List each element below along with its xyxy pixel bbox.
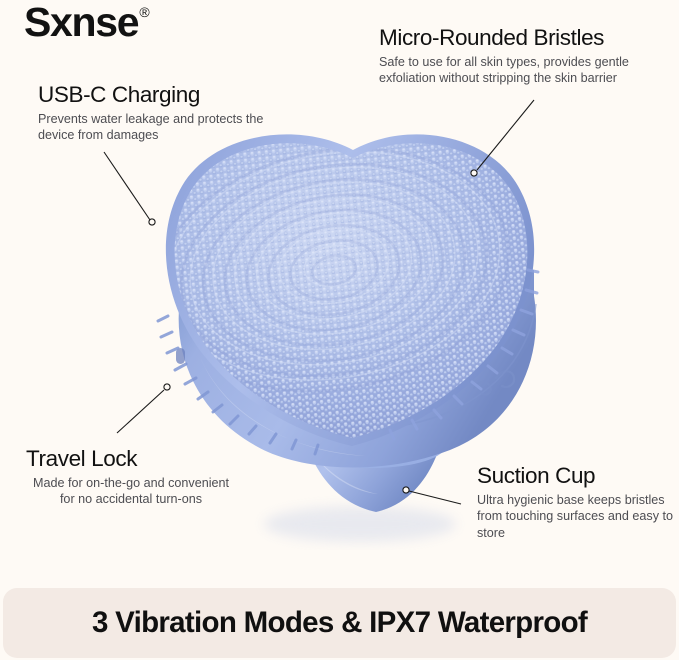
product-drop-shadow: [264, 506, 456, 542]
callout-title: Micro-Rounded Bristles: [379, 25, 669, 50]
callout-title: USB-C Charging: [38, 82, 288, 107]
callout-body: Prevents water leakage and protects the …: [38, 111, 288, 143]
callout-micro-rounded-bristles: Micro-Rounded Bristles Safe to use for a…: [379, 25, 669, 87]
callout-usb-c-charging: USB-C Charging Prevents water leakage an…: [38, 82, 288, 144]
callout-body: Safe to use for all skin types, provides…: [379, 54, 669, 86]
brand-name: Sxnse: [24, 2, 138, 43]
feature-banner: 3 Vibration Modes & IPX7 Waterproof: [3, 588, 676, 658]
brand-logo: Sxnse ®: [24, 2, 150, 43]
registered-trademark-icon: ®: [139, 5, 149, 19]
callout-title: Suction Cup: [477, 463, 677, 488]
callout-title: Travel Lock: [26, 446, 236, 471]
callout-body: Made for on-the-go and convenient for no…: [26, 475, 236, 507]
callout-body: Ultra hygienic base keeps bristles from …: [477, 492, 677, 541]
callout-suction-cup: Suction Cup Ultra hygienic base keeps br…: [477, 463, 677, 541]
usb-c-port: [176, 348, 185, 364]
infographic-page: Sxnse ®: [0, 0, 679, 660]
callout-travel-lock: Travel Lock Made for on-the-go and conve…: [26, 446, 236, 508]
feature-banner-text: 3 Vibration Modes & IPX7 Waterproof: [92, 606, 587, 640]
